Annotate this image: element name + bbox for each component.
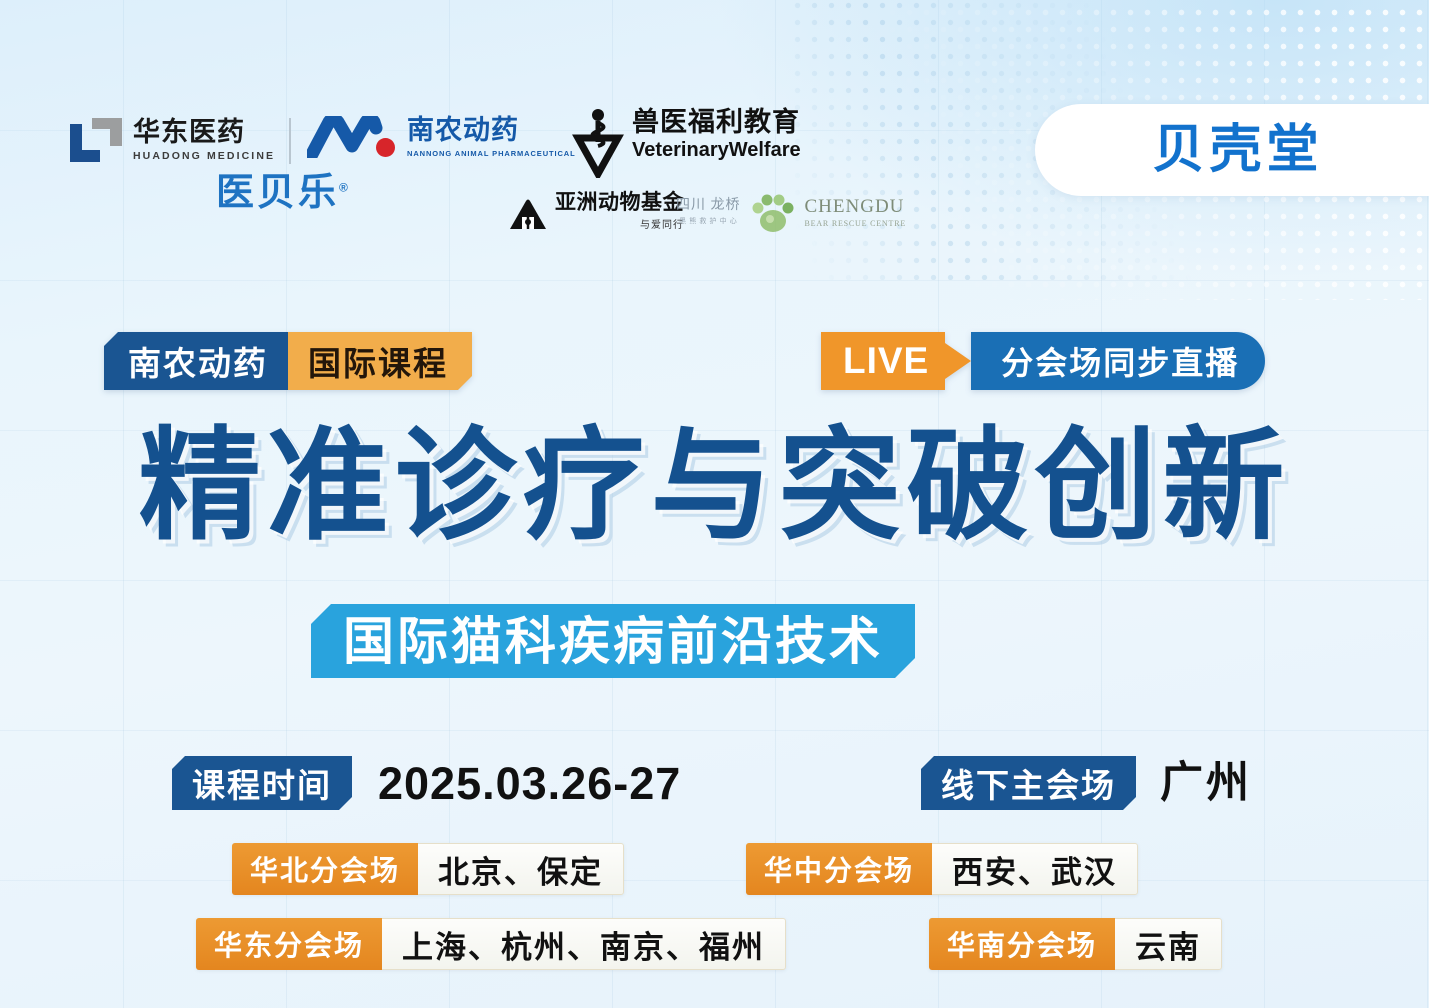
branch-value: 上海、杭州、南京、福州	[382, 919, 785, 969]
nanning-m-mark-icon	[307, 116, 397, 158]
branch-venue-central: 华中分会场 西安、武汉	[746, 843, 1138, 895]
chengdu-sichuan-cn: 四川 龙桥	[676, 198, 741, 213]
huadong-name-cn: 华东医药	[133, 119, 275, 146]
info-time-label: 课程时间	[172, 756, 352, 810]
info-time: 课程时间 2025.03.26-27	[172, 756, 681, 810]
logo-chengdu-bear-rescue: 四川 龙桥 黑 熊 救 护 中 心 CHENGDU BEAR RESCUE CE…	[676, 191, 906, 233]
chengdu-sichuan-sub: 黑 熊 救 护 中 心	[679, 216, 737, 226]
live-camera-icon: LIVE	[821, 332, 945, 390]
info-main-venue-value: 广州	[1160, 762, 1252, 805]
branch-venue-north: 华北分会场 北京、保定	[232, 843, 624, 895]
page-title: 精准诊疗与突破创新	[0, 425, 1429, 547]
sponsor-logo-bar: 华东医药 HUADONG MEDICINE 南农动药 NANNONG ANIMA…	[0, 0, 1429, 250]
branch-venue-east: 华东分会场 上海、杭州、南京、福州	[196, 918, 786, 970]
nanning-name-en: NANNONG ANIMAL PHARMACEUTICAL	[407, 149, 576, 158]
branch-venue-south: 华南分会场 云南	[929, 918, 1222, 970]
veterinary-caduceus-icon	[572, 108, 624, 178]
logo-huadong-medicine: 华东医药 HUADONG MEDICINE	[70, 118, 275, 162]
logo-nanning-pharma: 南农动药 NANNONG ANIMAL PHARMACEUTICAL	[307, 116, 576, 158]
info-main-venue: 线下主会场 广州	[921, 756, 1252, 810]
event-info: 课程时间 2025.03.26-27 线下主会场 广州	[0, 756, 1429, 818]
tag-live-stream: LIVE 分会场同步直播	[821, 332, 1265, 390]
asia-animal-foundation-icon	[508, 197, 548, 231]
tag-course-brand: 南农动药	[104, 332, 288, 390]
branch-label: 华南分会场	[929, 918, 1115, 970]
bear-paw-icon	[750, 191, 796, 233]
branch-label: 华中分会场	[746, 843, 932, 895]
yibeile-trademark: ®	[339, 180, 351, 194]
page-subtitle-banner: 国际猫科疾病前沿技术	[311, 604, 915, 678]
event-poster: 华东医药 HUADONG MEDICINE 南农动药 NANNONG ANIMA…	[0, 0, 1429, 1008]
nanning-name-cn: 南农动药	[407, 117, 576, 144]
page-subtitle: 国际猫科疾病前沿技术	[343, 616, 883, 667]
logo-divider	[289, 118, 291, 164]
tag-row: 南农动药 国际课程 LIVE 分会场同步直播	[0, 332, 1429, 394]
tag-course-type: 国际课程	[288, 332, 472, 390]
tag-live-label: 分会场同步直播	[971, 332, 1265, 390]
brand-badge-beiketang: 贝壳堂	[1035, 104, 1429, 196]
animals-asia-name-cn: 亚洲动物基金	[555, 192, 684, 213]
tag-course-series: 南农动药 国际课程	[104, 332, 472, 390]
veterinary-name-cn: 兽医福利教育	[632, 108, 801, 136]
branch-value: 北京、保定	[418, 844, 623, 894]
branch-value: 西安、武汉	[932, 844, 1137, 894]
chengdu-name-en: CHENGDU	[805, 197, 907, 216]
logo-veterinary-welfare: 兽医福利教育 VeterinaryWelfare	[572, 108, 801, 178]
info-main-venue-label: 线下主会场	[921, 756, 1136, 810]
logo-yibeile: 医贝乐®	[216, 174, 351, 212]
branch-value: 云南	[1115, 919, 1221, 969]
logo-animals-asia: 亚洲动物基金 与爱同行	[508, 192, 684, 231]
branch-label: 华北分会场	[232, 843, 418, 895]
veterinary-name-en: VeterinaryWelfare	[632, 139, 801, 162]
huadong-name-en: HUADONG MEDICINE	[133, 150, 275, 162]
huadong-mark-icon	[70, 118, 122, 162]
chengdu-sub-en: BEAR RESCUE CENTRE	[805, 219, 907, 228]
animals-asia-slogan: 与爱同行	[555, 216, 684, 231]
brand-badge-text: 贝壳堂	[1152, 124, 1323, 176]
yibeile-name-cn: 医贝乐	[216, 172, 339, 214]
branch-label: 华东分会场	[196, 918, 382, 970]
info-time-value: 2025.03.26-27	[378, 761, 681, 806]
